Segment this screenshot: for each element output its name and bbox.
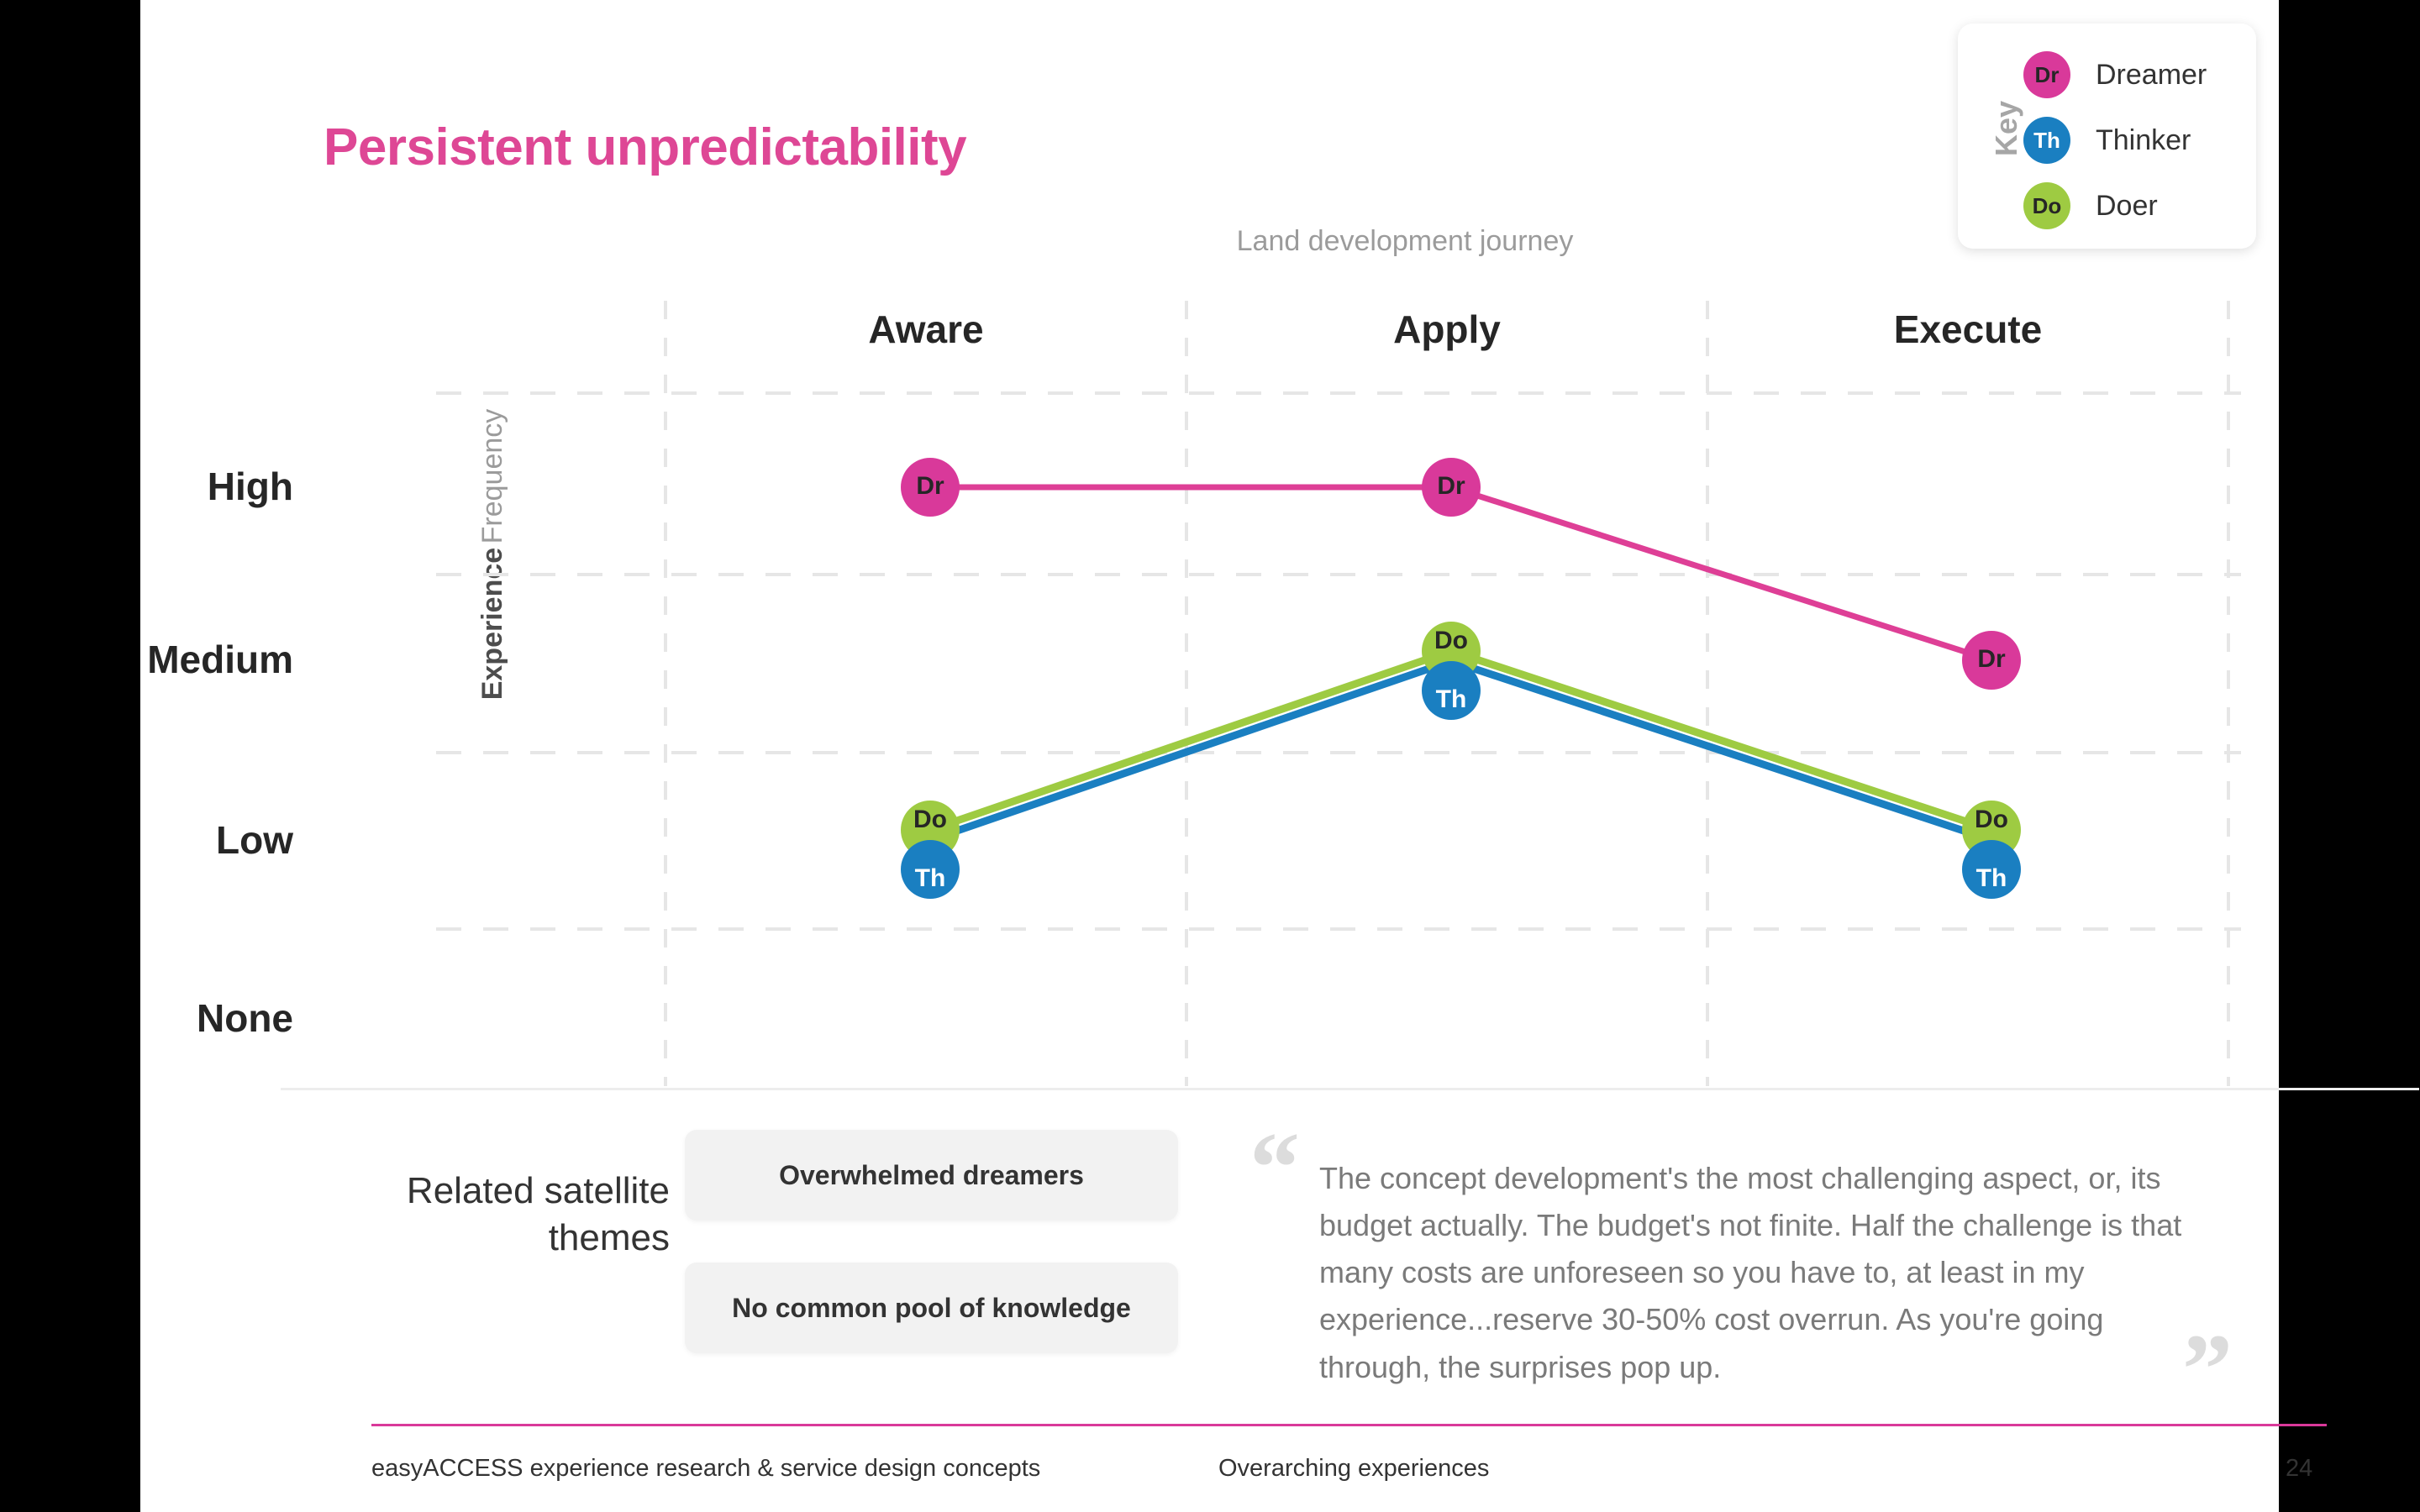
chart-y-axis-title: Experience Frequency: [476, 370, 577, 739]
thinker-chip-abbr: Th: [2033, 128, 2060, 154]
slide-surface: Persistent unpredictability Key Dr Dream…: [140, 0, 2279, 1512]
stage-label-aware: Aware: [665, 307, 1186, 352]
legend-label-thinker: Thinker: [2096, 124, 2191, 157]
thinker-chip-icon: Th: [2023, 117, 2070, 164]
datapoint-label-do-apply: Do: [1434, 627, 1468, 655]
legend-label-dreamer: Dreamer: [2096, 59, 2207, 92]
datapoint-label-dr-aware: Dr: [916, 472, 944, 501]
legend-item-dreamer[interactable]: Dr Dreamer: [2023, 42, 2207, 108]
y-axis-title-experience: Experience: [476, 548, 508, 700]
slide-canvas: Persistent unpredictability Key Dr Dream…: [0, 0, 2420, 1512]
chart-x-axis-title: Land development journey: [1048, 225, 1762, 258]
datapoint-label-do-aware: Do: [913, 806, 947, 834]
legend-key-box: Key Dr Dreamer Th Thinker Do: [1958, 24, 2256, 249]
datapoint-dreamer-apply[interactable]: Dr: [1422, 458, 1481, 517]
dreamer-chip-abbr: Dr: [2035, 62, 2060, 88]
y-tick-low: Low: [16, 817, 293, 863]
datapoint-label-dr-execute: Dr: [1977, 645, 2005, 674]
datapoint-label-dr-apply: Dr: [1437, 472, 1465, 501]
legend-item-thinker[interactable]: Th Thinker: [2023, 108, 2207, 173]
datapoint-label-th-execute: Th: [1976, 864, 2007, 893]
datapoint-label-th-aware: Th: [915, 864, 946, 893]
datapoint-thinker-apply[interactable]: Th: [1422, 661, 1481, 720]
datapoint-label-do-execute: Do: [1975, 806, 2008, 834]
chart-stage-labels: Aware Apply Execute: [665, 307, 2228, 374]
theme-card-no-common-pool[interactable]: No common pool of knowledge: [685, 1263, 1178, 1353]
dreamer-chip-icon: Dr: [2023, 51, 2070, 98]
footer-rule: [371, 1424, 2327, 1426]
footer-page-number: 24: [2286, 1455, 2312, 1483]
page-title: Persistent unpredictability: [324, 118, 966, 177]
legend-items: Dr Dreamer Th Thinker Do Doer: [2023, 42, 2207, 239]
related-themes-label: Related satellite themes: [392, 1168, 670, 1263]
quote-text: The concept development's the most chall…: [1319, 1155, 2210, 1391]
y-tick-none: None: [16, 995, 293, 1041]
legend-key-label: Key: [1989, 78, 2024, 179]
datapoint-dreamer-execute[interactable]: Dr: [1962, 631, 2021, 690]
doer-chip-icon: Do: [2023, 182, 2070, 229]
datapoint-label-th-apply: Th: [1436, 685, 1467, 714]
doer-chip-abbr: Do: [2033, 193, 2062, 219]
theme-card-overwhelmed-dreamers[interactable]: Overwhelmed dreamers: [685, 1130, 1178, 1221]
y-tick-medium: Medium: [16, 637, 293, 682]
datapoint-thinker-aware[interactable]: Th: [901, 840, 960, 899]
legend-label-doer: Doer: [2096, 190, 2158, 223]
y-tick-high: High: [16, 464, 293, 509]
y-axis-title-frequency: Frequency: [476, 409, 508, 544]
quote-open-icon: “: [1249, 1117, 1300, 1218]
datapoint-thinker-execute[interactable]: Th: [1962, 840, 2021, 899]
quote-close-icon: ”: [2182, 1319, 2233, 1420]
stage-label-apply: Apply: [1186, 307, 1707, 352]
footer-section-label: Overarching experiences: [1218, 1455, 1489, 1483]
legend-item-doer[interactable]: Do Doer: [2023, 173, 2207, 239]
section-divider: [281, 1088, 2419, 1090]
datapoint-dreamer-aware[interactable]: Dr: [901, 458, 960, 517]
stage-label-execute: Execute: [1707, 307, 2228, 352]
footer-project-label: easyACCESS experience research & service…: [371, 1455, 1040, 1483]
